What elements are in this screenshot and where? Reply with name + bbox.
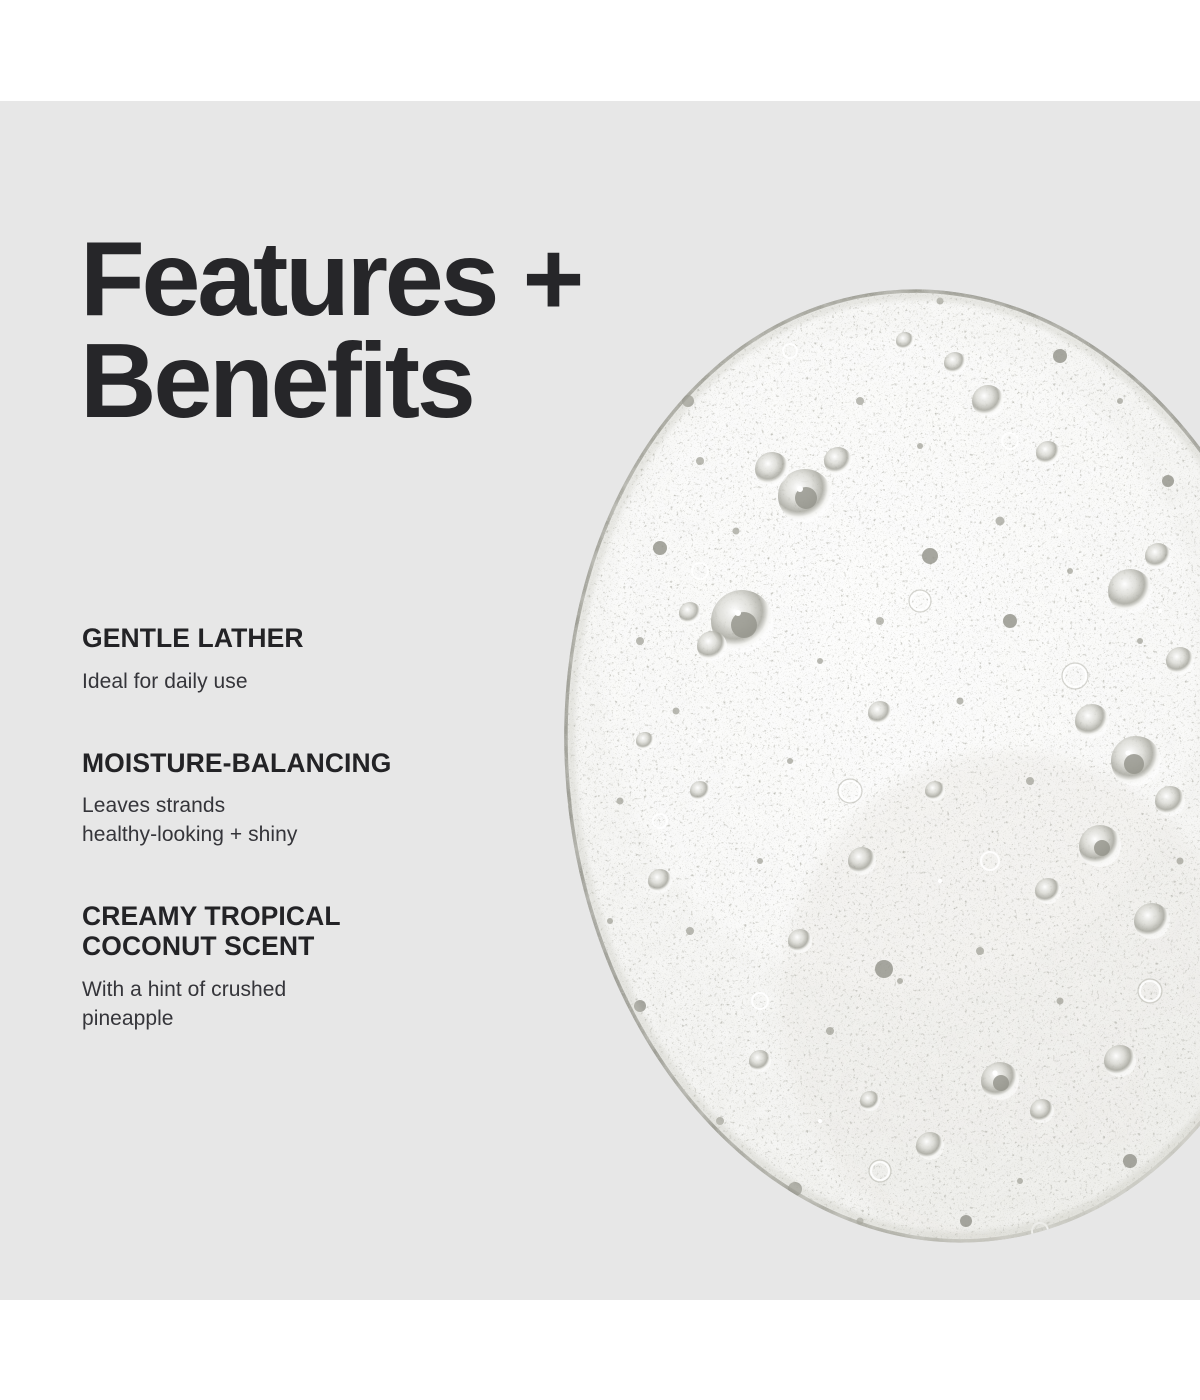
feature-desc-line-2: pineapple: [82, 1005, 582, 1034]
feature-desc-line-1: With a hint of crushed: [82, 976, 582, 1005]
feature-title-line-1: CREAMY TROPICAL: [82, 902, 582, 932]
feature-description: Ideal for daily use: [82, 668, 582, 697]
feature-title-line-1: MOISTURE-BALANCING: [82, 749, 582, 779]
feature-title-line-2: COCONUT SCENT: [82, 932, 582, 962]
feature-description: Leaves strands healthy-looking + shiny: [82, 792, 582, 850]
feature-title-line-1: GENTLE LATHER: [82, 624, 582, 654]
feature-item: CREAMY TROPICAL COCONUT SCENT With a hin…: [82, 902, 582, 1033]
feature-desc-line-2: healthy-looking + shiny: [82, 821, 582, 850]
infographic-canvas: Features + Benefits GENTLE LATHER Ideal …: [0, 0, 1200, 1400]
feature-title: MOISTURE-BALANCING: [82, 749, 582, 779]
feature-description: With a hint of crushed pineapple: [82, 976, 582, 1034]
feature-list: GENTLE LATHER Ideal for daily use MOISTU…: [82, 624, 582, 1034]
feature-item: MOISTURE-BALANCING Leaves strands health…: [82, 749, 582, 851]
feature-title: GENTLE LATHER: [82, 624, 582, 654]
headline-line-2: Benefits: [80, 331, 640, 433]
feature-desc-line-1: Ideal for daily use: [82, 668, 582, 697]
headline-line-1: Features +: [80, 229, 640, 331]
feature-title: CREAMY TROPICAL COCONUT SCENT: [82, 902, 582, 961]
feature-item: GENTLE LATHER Ideal for daily use: [82, 624, 582, 697]
page-title: Features + Benefits: [80, 229, 640, 433]
feature-desc-line-1: Leaves strands: [82, 792, 582, 821]
content-panel: Features + Benefits GENTLE LATHER Ideal …: [0, 101, 1200, 1300]
